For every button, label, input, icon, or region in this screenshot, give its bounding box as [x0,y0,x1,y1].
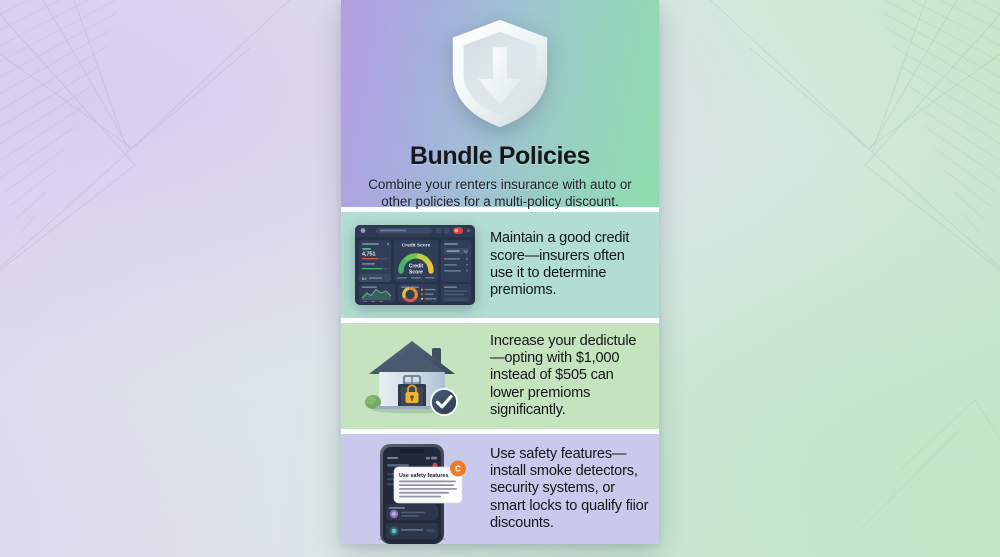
house-lock-check-illustration [354,334,476,418]
svg-text:Credit Score: Credit Score [402,243,431,249]
tip-text-deductible: Increase your dedictule—opting with $1,0… [476,333,659,420]
tip-text-safety-features: Use safety features—install smoke detect… [476,446,659,533]
page-title: Bundle Policies [410,142,590,171]
svg-text:4,751: 4,751 [362,251,376,257]
shield-download-icon [441,14,559,132]
tip-row-safety-features: Use safety features C Use safety feature… [341,434,659,544]
poster-hero: Bundle Policies Combine your renters ins… [341,0,659,207]
svg-text:Score: Score [409,270,423,276]
infographic-poster: Bundle Policies Combine your renters ins… [341,0,659,544]
svg-text:Use safety features: Use safety features [399,473,448,479]
phone-notification-illustration: Use safety features C [354,440,476,544]
tip-row-deductible: Increase your dedictule—opting with $1,0… [341,323,659,429]
credit-score-dashboard-illustration: 4,751 82 Credit Score Credit Score [354,223,476,307]
svg-text:82: 82 [362,276,367,281]
notification-badge-label: C [455,465,461,474]
tip-row-credit-score: 4,751 82 Credit Score Credit Score [341,212,659,318]
tip-text-credit-score: Maintain a good credit score—insurers of… [476,230,659,299]
svg-text:Credit: Credit [409,264,424,270]
hero-subtitle: Combine your renters insurance with auto… [360,176,640,210]
